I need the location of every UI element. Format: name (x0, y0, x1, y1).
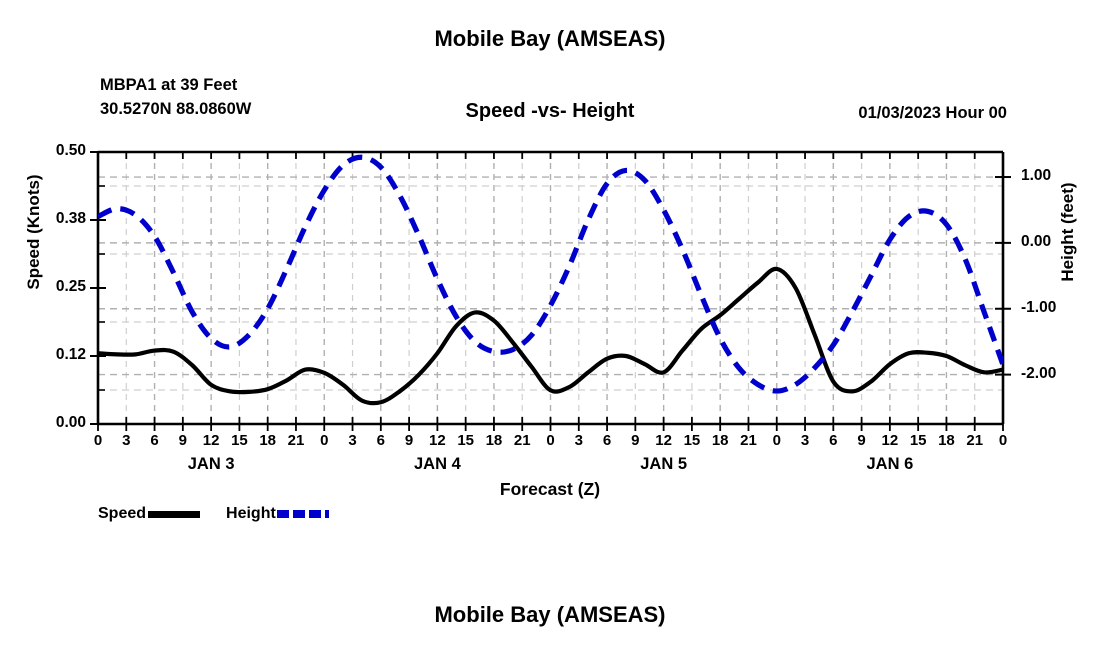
y-tick-label-left: 0.12 (16, 346, 86, 364)
y-tick-label-left: 0.38 (16, 210, 86, 228)
x-axis-day-label: JAN 6 (830, 455, 950, 474)
legend-swatch-height (277, 510, 329, 518)
legend-swatch-speed (148, 511, 200, 518)
chart-page: Mobile Bay (AMSEAS) MBPA1 at 39 Feet 30.… (0, 0, 1100, 650)
y-tick-label-right: 0.00 (1021, 233, 1100, 251)
legend-label-height: Height (226, 505, 276, 523)
y-tick-label-left: 0.00 (16, 414, 86, 432)
y-axis-label-left: Speed (Knots) (24, 132, 44, 332)
chart-legend: Speed Height (98, 505, 329, 523)
series-line-height (98, 157, 1003, 391)
x-axis-day-label: JAN 3 (151, 455, 271, 474)
bottom-title: Mobile Bay (AMSEAS) (0, 602, 1100, 628)
page-title: Mobile Bay (AMSEAS) (0, 26, 1100, 52)
x-axis-day-label: JAN 5 (604, 455, 724, 474)
x-axis-label: Forecast (Z) (0, 479, 1100, 500)
station-line: MBPA1 at 39 Feet (100, 73, 251, 97)
y-tick-label-right: -2.00 (1021, 365, 1100, 383)
y-tick-label-right: 1.00 (1021, 167, 1100, 185)
x-tick-label: 0 (983, 432, 1023, 449)
y-tick-label-left: 0.25 (16, 278, 86, 296)
y-tick-label-right: -1.00 (1021, 299, 1100, 317)
run-timestamp: 01/03/2023 Hour 00 (858, 104, 1007, 123)
series-line-speed (98, 269, 1003, 403)
x-axis-day-label: JAN 4 (377, 455, 497, 474)
legend-label-speed: Speed (98, 505, 146, 523)
y-tick-label-left: 0.50 (16, 142, 86, 160)
